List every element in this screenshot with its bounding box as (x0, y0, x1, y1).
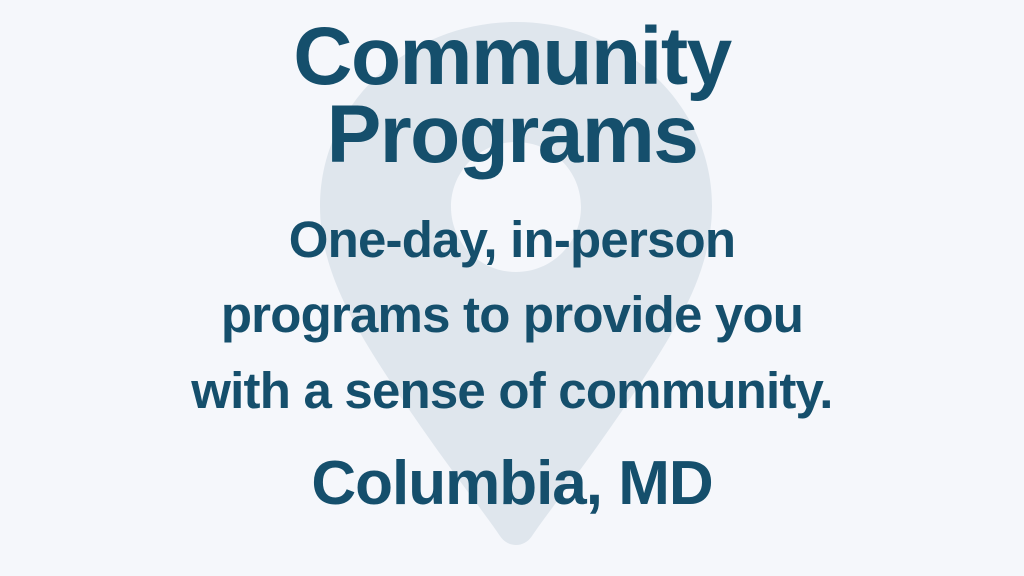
page-title: Community Programs (0, 18, 1024, 174)
description-line-1: One-day, in-person (0, 202, 1024, 277)
description-line-2: programs to provide you (0, 277, 1024, 352)
page-title-line-2: Programs (0, 96, 1024, 174)
promo-slide: Community Programs One-day, in-person pr… (0, 0, 1024, 576)
page-title-line-1: Community (0, 18, 1024, 96)
location-text: Columbia, MD (0, 450, 1024, 518)
description-line-3: with a sense of community. (0, 353, 1024, 428)
location-label: Columbia, MD (0, 450, 1024, 518)
description-text: One-day, in-person programs to provide y… (0, 202, 1024, 428)
slide-content: Community Programs One-day, in-person pr… (0, 0, 1024, 576)
